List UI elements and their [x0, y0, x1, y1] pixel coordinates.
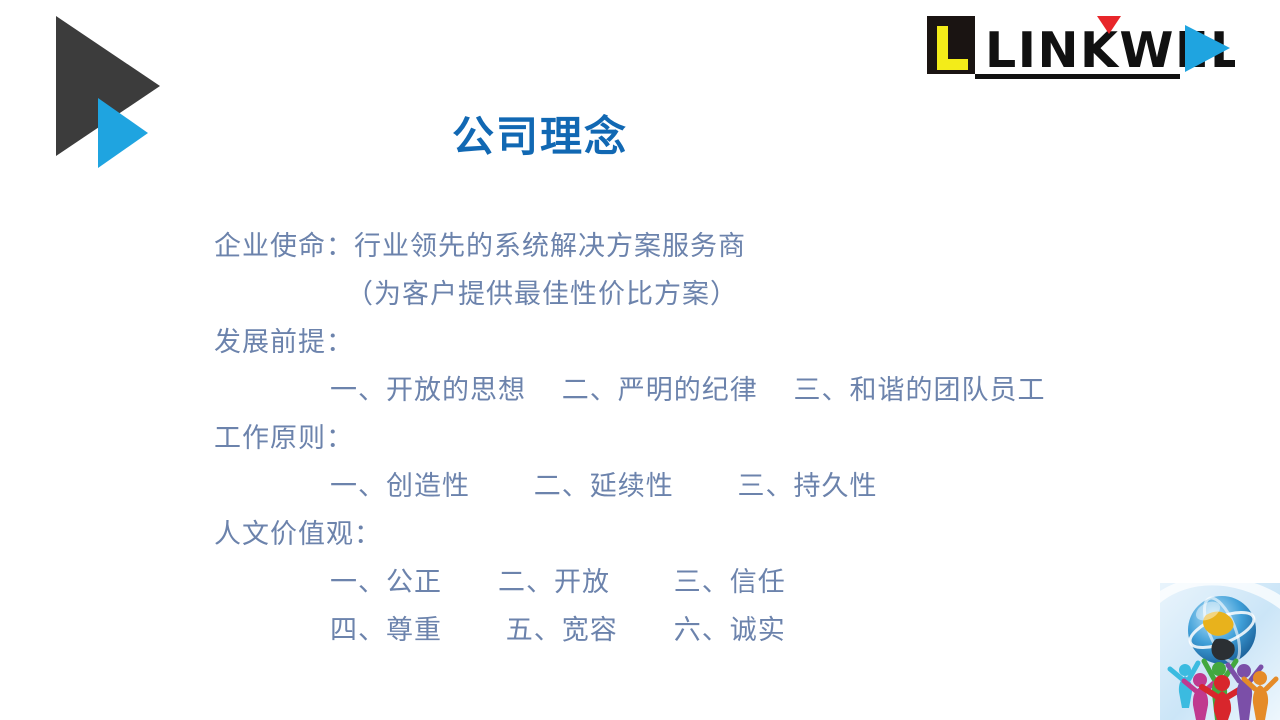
body-line-mission: 企业使命：行业领先的系统解决方案服务商: [214, 222, 1194, 270]
brand-logo: LINKWELL: [925, 10, 1235, 90]
body-line-mission-sub: （为客户提供最佳性价比方案）: [214, 270, 1194, 318]
body-line-values-heading: 人文价值观：: [214, 510, 1194, 558]
body-line-premise-items: 一、开放的思想 二、严明的纪律 三、和谐的团队员工: [214, 366, 1194, 414]
logo-underline: [975, 74, 1180, 79]
body-line-values-items-2: 四、尊重 五、宽容 六、诚实: [214, 606, 1194, 654]
page-title: 公司理念: [0, 112, 1080, 162]
slide-canvas: LINKWELL 公司理念 企业使命：行业领先的系统解决方案服务商 （为客户提供…: [0, 0, 1280, 720]
corner-illustration: [1160, 583, 1280, 720]
body-text-block: 企业使命：行业领先的系统解决方案服务商 （为客户提供最佳性价比方案） 发展前提：…: [214, 222, 1194, 654]
body-line-values-items-1: 一、公正 二、开放 三、信任: [214, 558, 1194, 606]
body-line-principles-items: 一、创造性 二、延续性 三、持久性: [214, 462, 1194, 510]
body-line-premise-heading: 发展前提：: [214, 318, 1194, 366]
decorative-arrow-mark: [0, 0, 220, 200]
body-line-principles-heading: 工作原则：: [214, 414, 1194, 462]
